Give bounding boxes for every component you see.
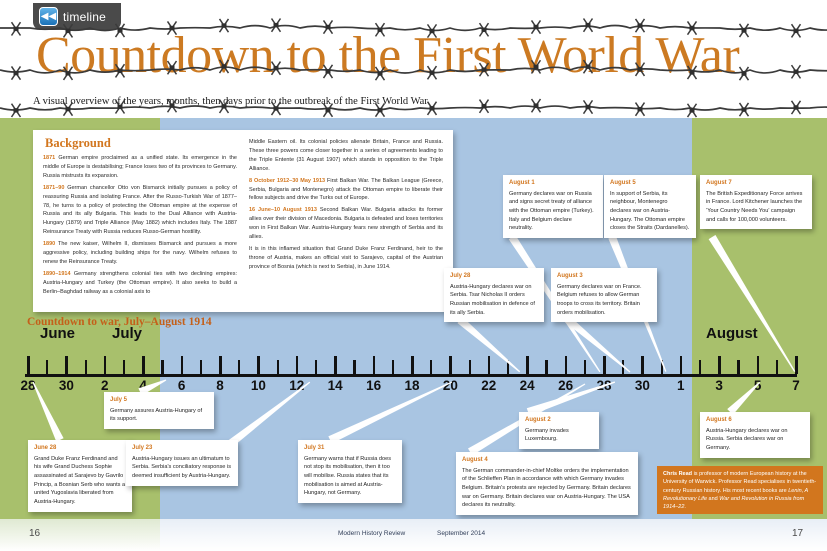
axis-tick-major: [27, 356, 30, 374]
axis-tick-major: [488, 356, 491, 374]
background-paragraph-text: German chancellor Otto von Bismarck init…: [43, 185, 237, 236]
axis-tick-minor: [392, 360, 394, 374]
event-date: June 28: [34, 444, 126, 453]
axis-tick-major: [296, 356, 299, 374]
axis-tick-label: 30: [635, 378, 650, 393]
axis-tick-major: [526, 356, 529, 374]
event-callout-july-28[interactable]: July 28Austria-Hungary declares war on S…: [444, 268, 544, 322]
background-paragraph-text: German empire proclaimed as a unified st…: [43, 155, 237, 179]
axis-tick-label: 14: [328, 378, 343, 393]
axis-tick-minor: [277, 360, 279, 374]
event-date: July 5: [110, 396, 208, 405]
axis-tick-label: 30: [59, 378, 74, 393]
background-paragraph-year: 16 June–10 August 1913: [249, 207, 317, 213]
axis-tick-label: 1: [677, 378, 685, 393]
axis-tick-label: 10: [251, 378, 266, 393]
background-paragraph: 1871–90 German chancellor Otto von Bisma…: [43, 184, 237, 237]
event-date: August 2: [525, 416, 593, 425]
axis-tick-major: [65, 356, 68, 374]
axis-tick-minor: [46, 360, 48, 374]
axis-tick-major: [142, 356, 145, 374]
footer-publication: Modern History Review: [338, 530, 405, 537]
month-label-june: June: [40, 325, 75, 342]
event-callout-july-5[interactable]: July 5Germany assures Austria-Hungary of…: [104, 392, 214, 429]
event-description: Grand Duke Franz Ferdinand and his wife …: [34, 455, 126, 507]
month-label-july: July: [112, 325, 142, 342]
event-callout-august-5[interactable]: August 5In support of Serbia, its neighb…: [604, 175, 696, 238]
author-credit-box: Chris Read is professor of modern Europe…: [657, 466, 823, 514]
background-paragraph: It is in this inflamed situation that Gr…: [249, 245, 443, 272]
axis-tick-major: [449, 356, 452, 374]
event-date: August 4: [462, 456, 632, 465]
event-callout-july-31[interactable]: July 31Germany warns that if Russia does…: [298, 440, 402, 503]
axis-tick-label: 7: [792, 378, 800, 393]
event-date: August 7: [706, 179, 806, 188]
event-description: Germany assures Austria-Hungary of its s…: [110, 407, 208, 424]
background-paragraph-text: It is in this inflamed situation that Gr…: [249, 246, 443, 270]
axis-tick-label: 6: [178, 378, 186, 393]
event-date: August 1: [509, 179, 597, 188]
axis-tick-major: [257, 356, 260, 374]
event-description: Germany invades Luxembourg.: [525, 427, 593, 444]
event-callout-august-4[interactable]: August 4The German commander-in-chief Mo…: [456, 452, 638, 515]
event-description: Germany declares war on France. Belgium …: [557, 283, 651, 318]
event-callout-august-2[interactable]: August 2Germany invades Luxembourg.: [519, 412, 599, 449]
month-label-august: August: [706, 325, 758, 342]
event-description: Austria-Hungary declares war on Serbia. …: [450, 283, 538, 318]
event-date: August 5: [610, 179, 690, 188]
background-article-box: Background 1871 German empire proclaimed…: [33, 130, 453, 312]
axis-tick-minor: [776, 360, 778, 374]
event-description: Germany warns that if Russia does not st…: [304, 455, 396, 498]
author-bio-2: and: [707, 496, 719, 502]
background-paragraph-text: The new kaiser, Wilhelm II, dismisses Bi…: [43, 241, 237, 265]
event-callout-august-6[interactable]: August 6Austria-Hungary declares war on …: [700, 412, 810, 458]
background-paragraph-year: 8 October 1912–30 May 1913: [249, 178, 325, 184]
event-date: August 6: [706, 416, 804, 425]
event-description: The British Expeditionary Force arrives …: [706, 190, 806, 225]
event-date: July 28: [450, 272, 538, 281]
axis-tick-major: [373, 356, 376, 374]
event-description: In support of Serbia, its neighbour, Mon…: [610, 190, 690, 233]
event-callout-august-1[interactable]: August 1Germany declares war on Russia a…: [503, 175, 603, 238]
event-description: The German commander-in-chief Moltke ord…: [462, 467, 632, 510]
event-callout-august-3[interactable]: August 3Germany declares war on France. …: [551, 268, 657, 322]
axis-tick-minor: [469, 360, 471, 374]
event-callout-june-28[interactable]: June 28Grand Duke Franz Ferdinand and hi…: [28, 440, 132, 512]
background-article-title: Background: [45, 136, 111, 151]
background-paragraph: 8 October 1912–30 May 1913 First Balkan …: [249, 177, 443, 204]
axis-tick-minor: [353, 360, 355, 374]
event-date: July 31: [304, 444, 396, 453]
axis-tick-major: [181, 356, 184, 374]
event-date: August 3: [557, 272, 651, 281]
axis-tick-minor: [430, 360, 432, 374]
background-paragraph: 16 June–10 August 1913 Second Balkan War…: [249, 206, 443, 242]
axis-tick-major: [219, 356, 222, 374]
axis-tick-major: [680, 356, 683, 374]
page-number-right: 17: [792, 528, 803, 539]
author-name: Chris Read: [663, 471, 692, 477]
axis-tick-major: [565, 356, 568, 374]
footer-issue-date: September 2014: [437, 530, 485, 537]
axis-tick-minor: [315, 360, 317, 374]
background-paragraph-text: Middle Eastern oil. Its colonial policie…: [249, 139, 443, 172]
event-callout-july-23[interactable]: July 23Austria-Hungary issues an ultimat…: [126, 440, 238, 486]
background-paragraph-year: 1871–90: [43, 185, 64, 191]
axis-tick-major: [757, 356, 760, 374]
timeline-axis-line: [25, 374, 797, 377]
axis-tick-major: [104, 356, 107, 374]
axis-tick-minor: [699, 360, 701, 374]
axis-tick-minor: [161, 360, 163, 374]
axis-tick-label: 3: [715, 378, 723, 393]
axis-tick-minor: [123, 360, 125, 374]
background-article-column-left: 1871 German empire proclaimed as a unifi…: [43, 138, 237, 306]
axis-tick-major: [411, 356, 414, 374]
axis-tick-minor: [737, 360, 739, 374]
axis-tick-label: 22: [481, 378, 496, 393]
background-paragraph: 1890 The new kaiser, Wilhelm II, dismiss…: [43, 240, 237, 267]
axis-tick-minor: [238, 360, 240, 374]
background-paragraph-year: 1890: [43, 241, 55, 247]
axis-tick-minor: [545, 360, 547, 374]
background-paragraph-text: Germany strengthens colonial ties with t…: [43, 271, 237, 295]
event-description: Austria-Hungary issues an ultimatum to S…: [132, 455, 232, 481]
axis-tick-label: 2: [101, 378, 109, 393]
axis-tick-label: 8: [216, 378, 224, 393]
event-description: Germany declares war on Russia and signs…: [509, 190, 597, 233]
timeline-page: ◀◀ timeline Countdown to the First World…: [0, 0, 827, 551]
event-callout-august-7[interactable]: August 7The British Expeditionary Force …: [700, 175, 812, 229]
background-paragraph-year: 1890–1914: [43, 271, 71, 277]
footer-band-green: [0, 519, 160, 551]
axis-tick-major: [334, 356, 337, 374]
background-paragraph-year: 1871: [43, 155, 55, 161]
background-paragraph: Middle Eastern oil. Its colonial policie…: [249, 138, 443, 174]
background-article-column-right: Middle Eastern oil. Its colonial policie…: [249, 138, 443, 306]
author-bio-3: .: [684, 504, 686, 510]
background-paragraph: 1871 German empire proclaimed as a unifi…: [43, 154, 237, 181]
page-number-left: 16: [29, 528, 40, 539]
background-paragraph: 1890–1914 Germany strengthens colonial t…: [43, 270, 237, 297]
event-description: Austria-Hungary declares war on Russia. …: [706, 427, 804, 453]
event-date: July 23: [132, 444, 232, 453]
axis-tick-minor: [85, 360, 87, 374]
axis-tick-major: [718, 356, 721, 374]
axis-tick-major: [641, 356, 644, 374]
axis-tick-minor: [200, 360, 202, 374]
axis-tick-label: 16: [366, 378, 381, 393]
axis-tick-label: 24: [520, 378, 535, 393]
